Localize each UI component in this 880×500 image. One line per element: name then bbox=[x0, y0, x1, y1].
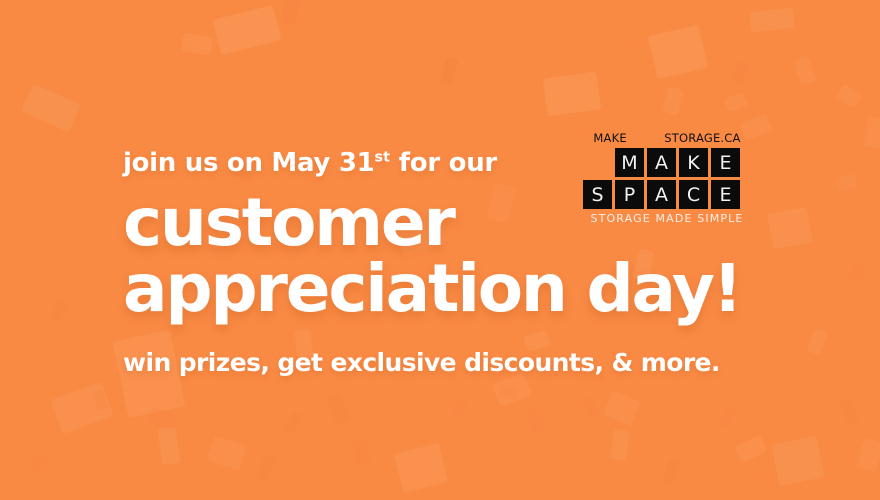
confetti-piece bbox=[718, 407, 735, 429]
confetti-piece bbox=[661, 459, 680, 486]
confetti-piece bbox=[21, 84, 81, 133]
confetti-piece bbox=[807, 328, 828, 355]
logo-tile-m-0: M bbox=[615, 148, 644, 177]
date-ordinal-suffix: st bbox=[374, 148, 390, 165]
confetti-piece bbox=[603, 390, 641, 426]
confetti-piece bbox=[767, 207, 813, 249]
url-segment-storage-ca: STORAGE.CA bbox=[664, 131, 740, 145]
confetti-piece bbox=[838, 399, 860, 426]
logo-tile-row-make: MAKE bbox=[583, 148, 751, 177]
confetti-piece bbox=[724, 92, 748, 112]
confetti-piece bbox=[856, 438, 880, 472]
logo-tile-p-1: P bbox=[615, 180, 644, 209]
confetti-piece bbox=[499, 385, 519, 400]
confetti-piece bbox=[394, 443, 448, 493]
logo-tile-row-space: SPACE bbox=[583, 180, 751, 209]
confetti-piece bbox=[864, 117, 880, 150]
confetti-piece bbox=[731, 61, 749, 85]
confetti-piece bbox=[283, 411, 303, 435]
confetti-piece bbox=[543, 71, 602, 116]
confetti-piece bbox=[662, 86, 684, 115]
confetti-piece bbox=[158, 427, 181, 465]
confetti-piece bbox=[610, 429, 630, 461]
confetti-piece bbox=[771, 436, 825, 487]
confetti-piece bbox=[256, 454, 277, 483]
logo-tile-c-3: C bbox=[679, 180, 708, 209]
makespace-logo[interactable]: MAKESPACESTORAGE.CA MAKE SPACE STORAGE M… bbox=[583, 131, 751, 225]
logo-tile-s-0: S bbox=[583, 180, 612, 209]
confetti-piece bbox=[648, 25, 709, 80]
confetti-piece bbox=[50, 382, 113, 434]
confetti-piece bbox=[835, 174, 857, 192]
confetti-piece bbox=[583, 395, 599, 417]
confetti-piece bbox=[835, 83, 862, 108]
logo-tile-k-2: K bbox=[679, 148, 708, 177]
logo-tile-a-2: A bbox=[647, 180, 676, 209]
logo-tagline: STORAGE MADE SIMPLE bbox=[583, 212, 751, 225]
confetti-piece bbox=[49, 299, 68, 323]
confetti-piece bbox=[353, 439, 371, 467]
kicker-text-after: for our bbox=[390, 148, 497, 178]
confetti-piece bbox=[149, 408, 176, 429]
confetti-piece bbox=[207, 435, 247, 470]
confetti-piece bbox=[527, 409, 544, 435]
promo-banner: join us on May 31st for our customer app… bbox=[0, 0, 880, 500]
confetti-piece bbox=[213, 5, 282, 55]
confetti-piece bbox=[439, 57, 458, 85]
logo-website-url: MAKESPACESTORAGE.CA bbox=[583, 131, 751, 145]
confetti-piece bbox=[280, 0, 300, 25]
logo-tile-e-4: E bbox=[711, 180, 740, 209]
confetti-piece bbox=[749, 8, 795, 32]
headline-line-2: appreciation day! bbox=[123, 254, 763, 324]
kicker-text-before: join us on May 31 bbox=[123, 148, 374, 178]
url-segment-make: MAKE bbox=[593, 131, 626, 145]
confetti-piece bbox=[793, 56, 816, 86]
logo-tile-e-3: E bbox=[711, 148, 740, 177]
confetti-piece bbox=[451, 397, 469, 421]
confetti-piece bbox=[92, 389, 108, 411]
confetti-piece bbox=[27, 454, 47, 478]
confetti-piece bbox=[849, 261, 866, 285]
promo-subline: win prizes, get exclusive discounts, & m… bbox=[123, 348, 763, 378]
url-segment-space: SPACE bbox=[627, 131, 664, 145]
confetti-piece bbox=[181, 33, 213, 55]
logo-tile-a-1: A bbox=[647, 148, 676, 177]
confetti-piece bbox=[325, 393, 351, 425]
confetti-piece bbox=[734, 435, 767, 463]
